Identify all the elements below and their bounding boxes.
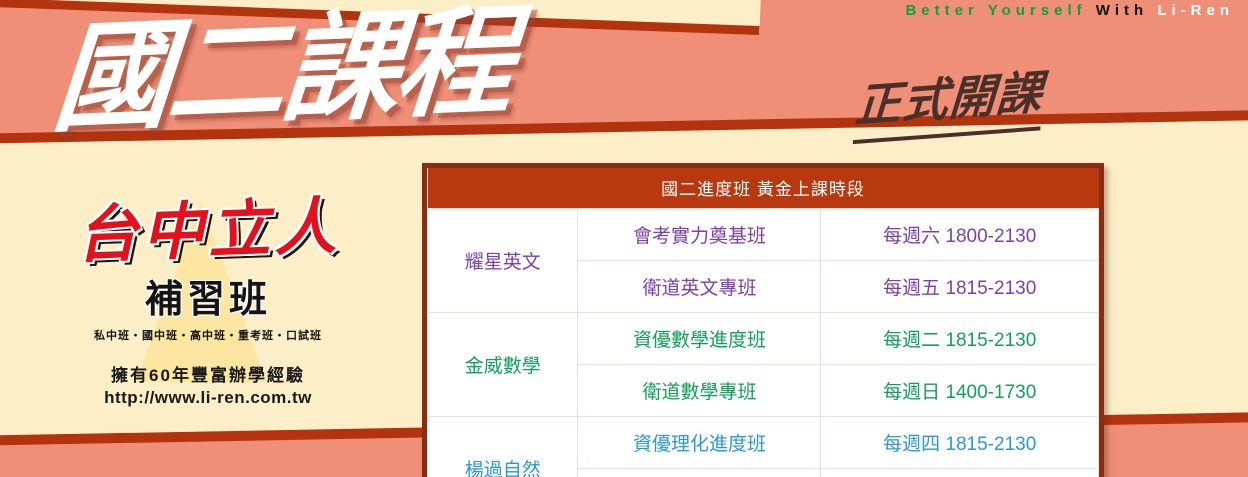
schedule-table-body: 耀星英文會考實力奠基班每週六 1800-2130衛道英文專班每週五 1815-2… — [428, 209, 1099, 477]
schedule-header-title: 國二進度班 黃金上課時段 — [428, 168, 1099, 209]
tagline: Better Yourself With Li-Ren — [905, 2, 1234, 19]
logo-website-url[interactable]: http://www.li-ren.com.tw — [28, 388, 388, 408]
schedule-table-container: 國二進度班 黃金上課時段 耀星英文會考實力奠基班每週六 1800-2130衛道英… — [422, 163, 1104, 477]
table-row: 耀星英文會考實力奠基班每週六 1800-2130 — [428, 209, 1099, 261]
logo-experience: 擁有60年豐富辦學經驗 — [28, 361, 388, 386]
tagline-part-3: Li-Ren — [1157, 2, 1234, 19]
table-header-row: 國二進度班 黃金上課時段 — [428, 168, 1099, 209]
schedule-table: 國二進度班 黃金上課時段 耀星英文會考實力奠基班每週六 1800-2130衛道英… — [427, 168, 1099, 477]
time-cell: 每週五 1815-2130 — [821, 261, 1099, 313]
course-cell: 衛道英文專班 — [578, 261, 821, 313]
time-cell: 每週日 1400-1730 — [821, 365, 1099, 417]
tagline-part-1: Better Yourself — [905, 2, 1086, 19]
time-cell: 每週二 1815-2130 — [821, 313, 1099, 365]
subject-cell: 耀星英文 — [428, 209, 578, 313]
table-row: 楊過自然資優理化進度班每週四 1815-2130 — [428, 417, 1099, 469]
time-cell: 每週日 0900-1230 — [821, 469, 1099, 477]
promo-banner: Better Yourself With Li-Ren 國二課程 正式開課 台中… — [0, 0, 1248, 477]
course-cell: 會考實力奠基班 — [578, 209, 821, 261]
time-cell: 每週六 1800-2130 — [821, 209, 1099, 261]
main-title: 國二課程 — [49, 0, 515, 141]
table-row: 金威數學資優數學進度班每週二 1815-2130 — [428, 313, 1099, 365]
logo-class-types: 私中班・國中班・高中班・重考班・口試班 — [28, 327, 388, 343]
tagline-part-2: With — [1096, 2, 1148, 19]
subject-cell: 金威數學 — [428, 313, 578, 417]
logo-name-sub: 補習班 — [28, 268, 388, 323]
logo-block: 台中立人 補習班 私中班・國中班・高中班・重考班・口試班 擁有60年豐富辦學經驗… — [28, 196, 388, 408]
course-cell: 衛道自然專班 — [578, 469, 821, 477]
course-cell: 衛道數學專班 — [578, 365, 821, 417]
course-cell: 資優數學進度班 — [578, 313, 821, 365]
logo-name-main: 台中立人 — [27, 194, 389, 269]
subject-cell: 楊過自然 — [428, 417, 578, 477]
course-cell: 資優理化進度班 — [578, 417, 821, 469]
sub-title: 正式開課 — [853, 56, 1045, 144]
time-cell: 每週四 1815-2130 — [821, 417, 1099, 469]
